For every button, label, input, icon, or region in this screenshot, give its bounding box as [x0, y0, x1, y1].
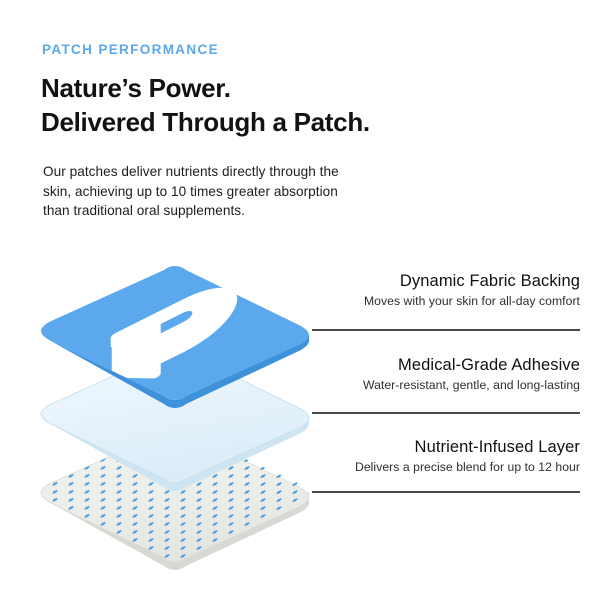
callout-title: Dynamic Fabric Backing [330, 271, 580, 291]
callout-dynamic-fabric-backing: Dynamic Fabric Backing Moves with your s… [330, 271, 580, 310]
callout-nutrient-infused-layer: Nutrient-Infused Layer Delivers a precis… [330, 437, 580, 476]
callout-medical-grade-adhesive: Medical-Grade Adhesive Water-resistant, … [330, 355, 580, 394]
callout-subtitle: Delivers a precise blend for up to 12 ho… [330, 459, 580, 476]
callout-title: Medical-Grade Adhesive [330, 355, 580, 375]
callout-subtitle: Moves with your skin for all-day comfort [330, 293, 580, 310]
callout-subtitle: Water-resistant, gentle, and long-lastin… [330, 377, 580, 394]
callout-title: Nutrient-Infused Layer [330, 437, 580, 457]
layer-dynamic-fabric-backing [41, 266, 309, 408]
